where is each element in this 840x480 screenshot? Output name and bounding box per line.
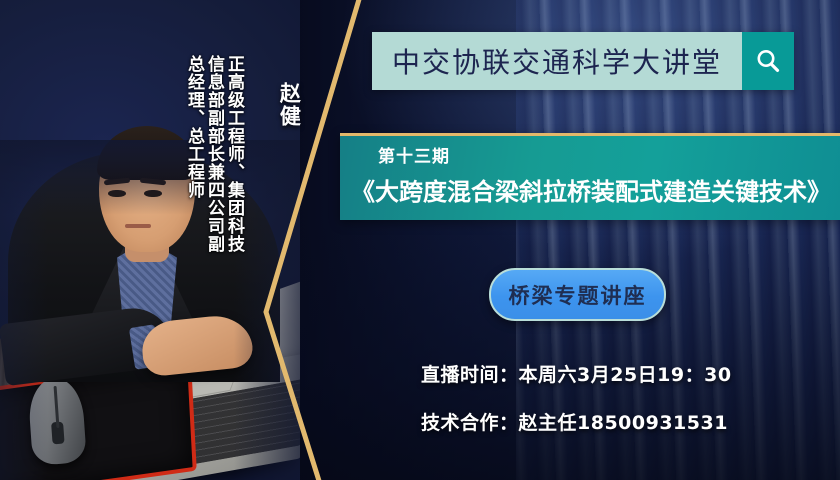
search-icon xyxy=(754,47,782,75)
search-button[interactable] xyxy=(742,32,794,90)
episode-title: 《大跨度混合梁斜拉桥装配式建造关键技术》 xyxy=(348,172,834,207)
topic-badge[interactable]: 桥梁专题讲座 xyxy=(489,268,666,321)
speaker-photo xyxy=(0,140,302,480)
speaker-panel xyxy=(0,0,340,480)
topic-badge-label: 桥梁专题讲座 xyxy=(509,280,647,310)
speaker-name: 赵健 xyxy=(278,82,299,128)
program-title-box: 中交协联交通科学大讲堂 xyxy=(372,32,742,90)
credential-line-2: 信息部副部长兼四公司副 xyxy=(205,55,222,253)
backdrop-bottom-vignette xyxy=(300,216,840,480)
live-stream-poster: 正高级工程师、集团科技 信息部副部长兼四公司副 总经理、总工程师 赵健 中交协联… xyxy=(0,0,840,480)
episode-banner: 第十三期 《大跨度混合梁斜拉桥装配式建造关键技术》 xyxy=(340,133,840,220)
credential-line-1: 正高级工程师、集团科技 xyxy=(225,55,242,253)
speaker-credentials: 正高级工程师、集团科技 信息部副部长兼四公司副 总经理、总工程师 xyxy=(185,10,242,253)
page-title: 中交协联交通科学大讲堂 xyxy=(392,41,722,81)
episode-number: 第十三期 xyxy=(378,142,450,167)
credential-line-3: 总经理、总工程师 xyxy=(185,55,202,199)
live-time-line: 直播时间：本周六3月25日19：30 xyxy=(421,360,732,387)
contact-line: 技术合作：赵主任18500931531 xyxy=(421,408,732,435)
program-title-bar: 中交协联交通科学大讲堂 xyxy=(372,32,794,90)
photo-gradient-overlay xyxy=(0,140,302,480)
broadcast-info: 直播时间：本周六3月25日19：30 技术合作：赵主任18500931531 xyxy=(421,360,732,435)
